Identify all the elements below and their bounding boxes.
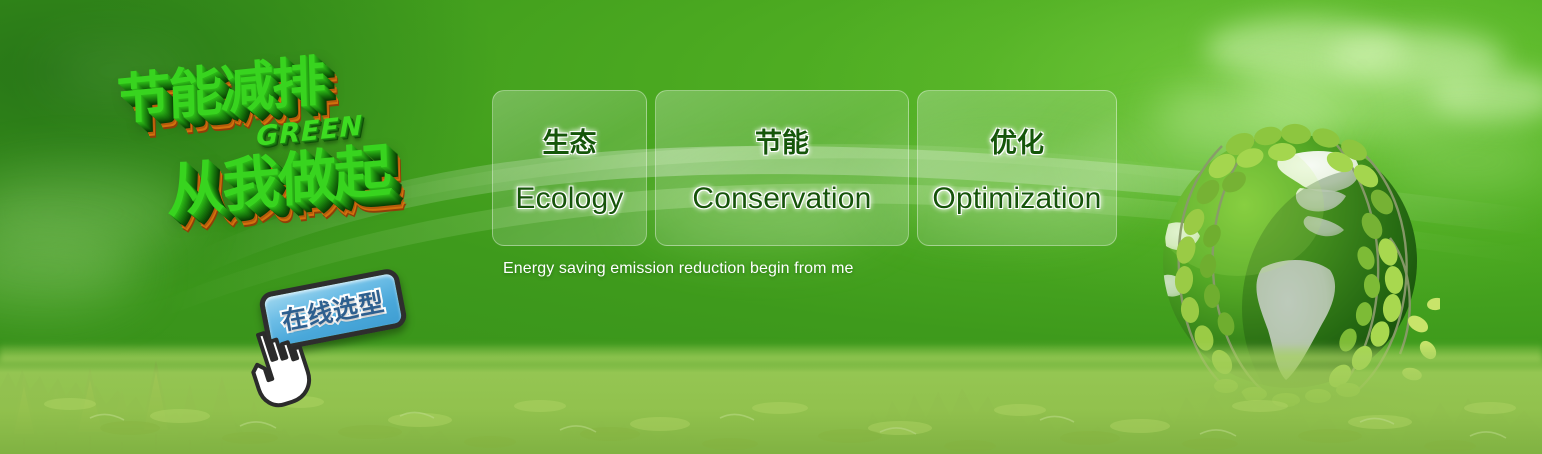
leaf-litter-texture	[0, 358, 1542, 454]
headline-3d: 节能减排 GREEN 从我做起	[104, 38, 484, 273]
feature-card-en-label: Optimization	[932, 182, 1101, 216]
feature-card-conservation[interactable]: 节能 Conservation	[655, 90, 909, 246]
feature-card-cn-label: 优化	[990, 121, 1044, 160]
feature-card-en-label: Ecology	[515, 182, 623, 216]
hand-pointer-icon	[238, 318, 320, 410]
feature-card-cn-label: 生态	[543, 121, 597, 160]
tagline: Energy saving emission reduction begin f…	[503, 260, 854, 278]
eco-hero-banner: 节能减排 GREEN 从我做起 生态 Ecology 节能 Conservati…	[0, 0, 1542, 454]
feature-card-ecology[interactable]: 生态 Ecology	[492, 90, 647, 246]
feature-card-list: 生态 Ecology 节能 Conservation 优化 Optimizati…	[492, 90, 1117, 246]
feature-card-cn-label: 节能	[755, 121, 809, 160]
headline-line-2: 从我做起	[165, 123, 390, 229]
feature-card-en-label: Conservation	[692, 182, 871, 216]
feature-card-optimization[interactable]: 优化 Optimization	[917, 90, 1117, 246]
